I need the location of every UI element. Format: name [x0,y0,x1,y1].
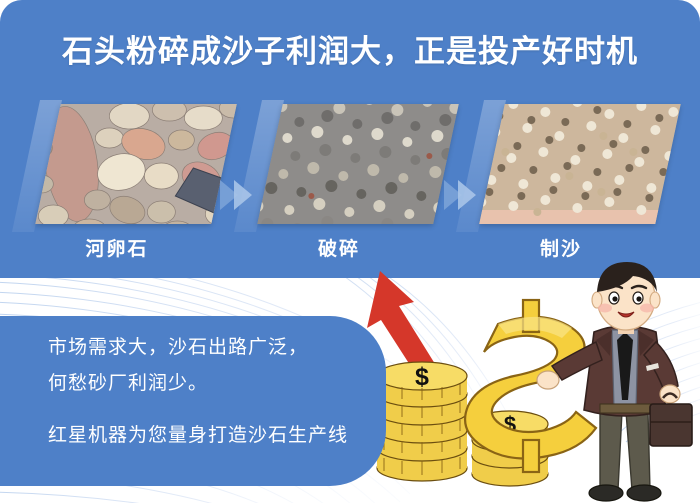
dollar-sign-icon [465,300,596,472]
message-line-3: 红星机器为您量身打造沙石生产线 [48,420,348,447]
businessman-figure [537,262,692,501]
process-image-crushed-gravel [257,104,459,224]
hand-left [537,371,559,389]
chevron-right-icon [438,176,480,214]
process-label-1: 河卵石 [18,232,216,268]
shoe-left [589,485,623,501]
message-line-2: 何愁砂厂利润少。 [48,368,208,395]
shoe-right [627,485,661,501]
page-title: 石头粉碎成沙子利润大，正是投产好时机 [0,26,700,71]
coin-stack-icon: $ [377,362,467,481]
promo-banner: 石头粉碎成沙子利润大，正是投产好时机 [0,0,700,503]
process-image-manufactured-sand [479,104,681,224]
process-image-river-pebbles [35,104,237,224]
process-label-1-text: 河卵石 [22,232,212,268]
chevron-right-icon [214,176,256,214]
coin-dollar-glyph: $ [415,363,429,391]
message-line-1: 市场需求大，沙石出路广泛， [48,332,308,359]
businessman-profit-growth-illustration: $ $ [350,262,700,503]
